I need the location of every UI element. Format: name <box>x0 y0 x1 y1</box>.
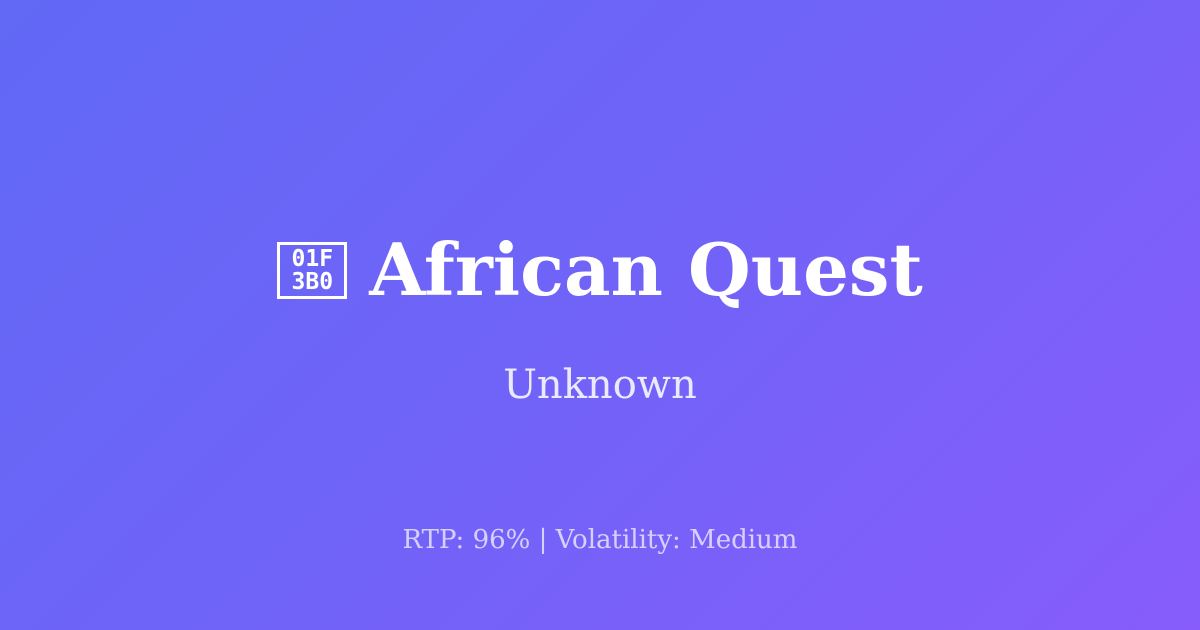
game-stats-line: RTP: 96% | Volatility: Medium <box>0 525 1200 556</box>
provider-name: Unknown <box>0 363 1200 407</box>
og-share-card: 01F 3B0 African Quest Unknown RTP: 96% |… <box>0 0 1200 630</box>
slot-machine-tofu-icon: 01F 3B0 <box>277 242 347 299</box>
tofu-codepoint-top: 01F <box>292 248 334 271</box>
game-title: African Quest <box>369 234 922 306</box>
tofu-codepoint-bottom: 3B0 <box>292 271 334 294</box>
title-row: 01F 3B0 African Quest <box>0 234 1200 306</box>
